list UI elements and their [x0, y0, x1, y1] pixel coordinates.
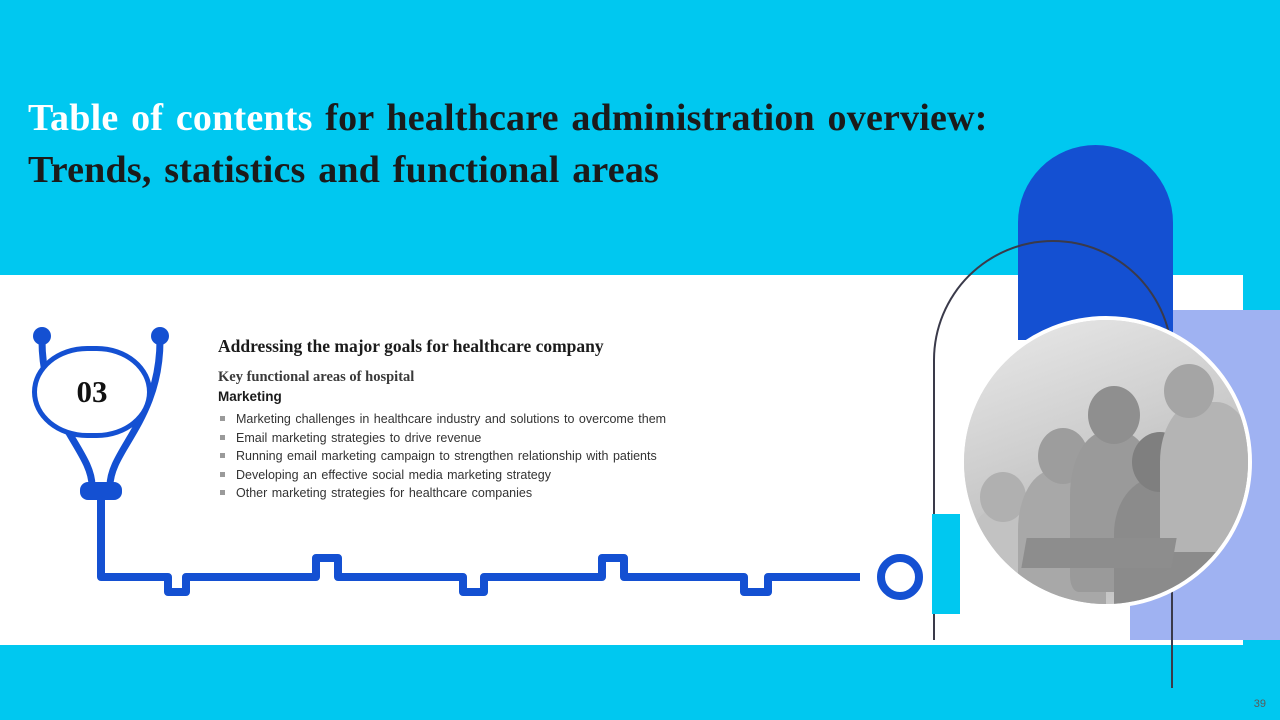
list-item: Developing an effective social media mar… — [218, 466, 918, 484]
list-item: Email marketing strategies to drive reve… — [218, 429, 918, 447]
slide: Table of contents for healthcare adminis… — [0, 0, 1280, 720]
decorative-arch-tail-line — [1171, 600, 1173, 688]
list-item: Running email marketing campaign to stre… — [218, 447, 918, 465]
page-title-bold: Table of contents — [28, 97, 313, 139]
team-photo — [960, 316, 1252, 608]
section-bullet-list: Marketing challenges in healthcare indus… — [218, 410, 918, 502]
page-title: Table of contents for healthcare adminis… — [28, 92, 1028, 196]
section-category: Marketing — [218, 389, 918, 404]
section-heading: Addressing the major goals for healthcar… — [218, 336, 918, 357]
section-subheading: Key functional areas of hospital — [218, 369, 918, 386]
laptop-icon — [1021, 538, 1176, 568]
list-item: Other marketing strategies for healthcar… — [218, 484, 918, 502]
section-number: 03 — [32, 346, 152, 438]
team-photo-image — [964, 320, 1248, 604]
page-number: 39 — [1254, 698, 1266, 710]
section-content: Addressing the major goals for healthcar… — [218, 336, 918, 503]
list-item: Marketing challenges in healthcare indus… — [218, 410, 918, 428]
